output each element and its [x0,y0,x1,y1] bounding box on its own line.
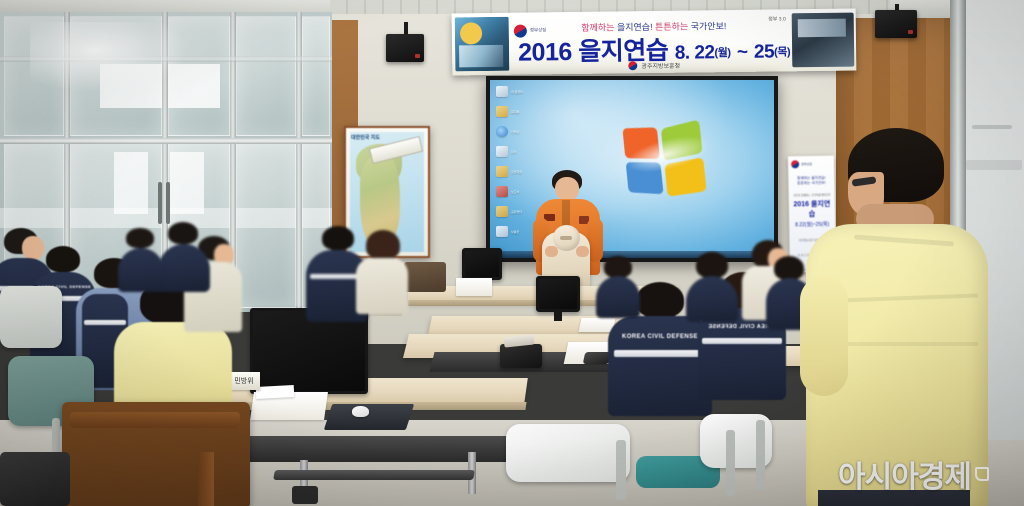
ceiling-speaker-left [386,34,424,62]
attendee-vest [158,244,210,292]
door-handle[interactable] [158,182,162,224]
attendee-vest [686,276,738,322]
desktop-icon-label: 공유폴더 [511,210,522,214]
attendee-right-6 [596,256,640,318]
center-monitor-screen [536,276,580,312]
taeguk-icon [628,61,637,70]
window-mullion [0,138,332,144]
presenter-hand-right [576,246,589,257]
watermark: 아시아경제 [838,452,989,496]
chair-back[interactable] [506,424,630,482]
desk-nameplate: 민방위 [228,372,260,390]
desktop-icon-label: 상황판 [511,230,519,234]
front-table-modesty-panel [228,436,533,462]
cable-tray [273,470,475,480]
attendee-mid-2 [356,230,408,314]
document-icon [496,226,508,237]
wooden-chair-rail [70,412,240,428]
mouse[interactable] [352,406,369,417]
wooden-chair-leg [198,452,214,506]
desktop-icon[interactable]: 내 컴퓨터 [496,86,540,97]
chair-back[interactable] [0,286,62,348]
glass-pane [302,16,330,136]
attendee-hair [696,252,728,278]
foreground-standing-officer [796,128,986,506]
windows-logo-icon [623,117,712,198]
chair-frame [726,430,735,496]
mousepad [324,404,414,430]
banner-org-name: 광주지방보훈청 [641,61,680,70]
map-title: 대한민국 지도 [351,134,380,141]
attendee-hair [366,230,400,260]
center-desk-device [583,352,612,364]
attendee-hair [636,282,684,318]
equipment-case [404,262,446,292]
center-monitor[interactable] [536,276,580,312]
door-glass-sign [170,152,204,214]
vest-label: KOREA CIVIL DEFENSE [622,334,698,340]
door-handle[interactable] [166,182,170,224]
attendee-right-3 [686,252,738,322]
back-desk-paper [456,278,492,296]
vest-reflective-stripe [310,274,362,279]
desktop-icon-label: 보고서 [511,190,519,194]
attendee-left-7 [118,228,164,292]
presenter-face [555,177,579,201]
ceiling-speaker-right [875,10,917,38]
presenter-hand-left [545,246,558,257]
floor-bag [0,452,70,506]
desktop-icon[interactable]: 문서 [496,146,540,157]
desktop-icon-label: 문서 [511,150,517,154]
desk-phone[interactable] [500,344,542,368]
watermark-logo-icon [975,467,989,481]
folder-icon [496,166,508,177]
floor-power-box [292,486,318,504]
cpr-manikin-face [560,236,572,240]
chair-frame [756,420,765,490]
attendee-vest [596,276,640,318]
banner-date-end-day: (목) [774,46,790,58]
center-monitor-stand [554,312,562,321]
vest-reflective-stripe [614,350,706,357]
banner-date-start-day: (월) [714,47,730,59]
officer-arm [800,276,848,396]
attendee-hair [168,222,198,244]
back-monitor[interactable] [462,248,502,280]
attendee-shirt [356,258,408,314]
desktop-icon-label: 훈련자료 [511,170,522,174]
desktop-icon-label: 내 컴퓨터 [511,90,523,94]
document-icon [496,146,508,157]
vest-reflective-stripe [702,338,782,344]
glass-pane [236,16,296,136]
folder-icon [496,206,508,217]
attendee-vest [118,248,164,292]
attendee-vest [608,316,712,416]
nameplate [256,385,295,399]
projection-screen-frame: 내 컴퓨터 휴지통 인터넷 문서 훈련자료 보고서 공유폴더 상황판 [486,76,778,262]
folder-icon [496,106,508,117]
glass-glare [30,22,190,92]
desktop-icon-label: 휴지통 [511,110,519,114]
attendee-hair [604,256,632,278]
desktop-icon-label: 인터넷 [511,130,519,134]
report-icon [496,186,508,197]
document-icon [496,86,508,97]
event-banner: 정부상징 정부 3.0 함께하는 을지연습! 튼튼하는 국가안보! 2016 을… [452,9,857,76]
internet-icon [496,126,508,137]
attendee-hair [322,226,354,250]
chair-frame [616,440,626,500]
back-monitor-screen [462,248,502,280]
attendee-left-6 [158,222,210,292]
photo-scene: 정부상징 정부 3.0 함께하는 을지연습! 튼튼하는 국가안보! 2016 을… [0,0,1024,506]
attendee-hair [126,228,154,248]
attendee-hair [46,246,80,272]
desktop-icon[interactable]: 휴지통 [496,106,540,117]
door-glass-sign [114,152,148,214]
watermark-text: 아시아경제 [838,452,971,496]
desktop-icon[interactable]: 인터넷 [496,126,540,137]
